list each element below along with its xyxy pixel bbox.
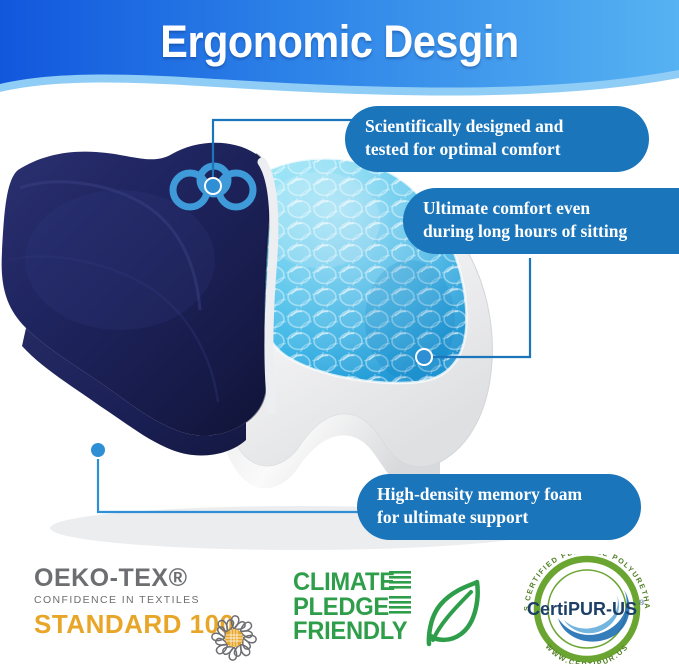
certipur-registered-mark: ® — [639, 599, 645, 607]
oeko-tex-tagline: CONFIDENCE IN TEXTILES — [34, 595, 284, 606]
callout-memory-foam[interactable]: High-density memory foam for ultimate su… — [357, 474, 641, 540]
certipur-center-text: CertiPUR-US — [527, 599, 637, 619]
callout-ultimate-comfort[interactable]: Ultimate comfort even during long hours … — [403, 188, 679, 254]
oeko-tex-badge: OEKO-TEX® CONFIDENCE IN TEXTILES STANDAR… — [34, 566, 284, 654]
gel-surface-marker[interactable] — [415, 348, 433, 366]
oeko-tex-flower-icon — [206, 610, 262, 666]
climate-pledge-friendly-badge: CLIMATE PLEDGE FRIENDLY — [293, 562, 483, 658]
certification-badges: OEKO-TEX® CONFIDENCE IN TEXTILES STANDAR… — [0, 552, 679, 666]
certipur-us-badge: CONTAINS CERTIFIED FLEXIBLE POLYURETHANE… — [512, 554, 662, 664]
gel-logo-marker[interactable] — [204, 177, 222, 195]
infographic-page: Ergonomic Desgin — [0, 0, 679, 666]
climate-pledge-bars-icon — [389, 570, 413, 626]
leaf-icon — [421, 574, 483, 650]
memory-foam-marker[interactable] — [89, 441, 107, 459]
oeko-tex-brand: OEKO-TEX® — [34, 566, 284, 591]
callout-scientifically-designed[interactable]: Scientifically designed and tested for o… — [345, 106, 649, 172]
certipur-seal: CONTAINS CERTIFIED FLEXIBLE POLYURETHANE… — [512, 554, 662, 664]
